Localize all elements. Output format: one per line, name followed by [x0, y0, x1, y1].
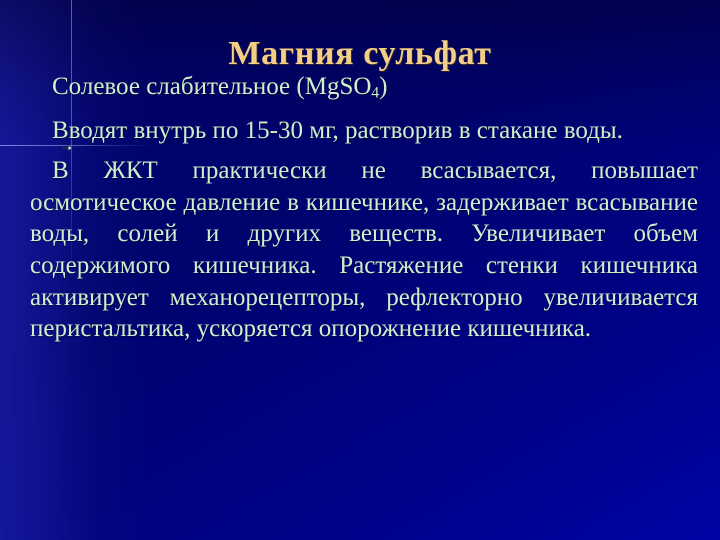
formula-text-after: )	[379, 73, 387, 100]
page-title: Магния сульфат	[0, 36, 720, 72]
paragraph-dosage: Вводят внутрь по 15-30 мг, растворив в с…	[30, 116, 698, 147]
formula-subscript: 4	[371, 84, 379, 101]
formula-text-before: Солевое слабительное (MgSO	[52, 73, 371, 100]
paragraph-formula: Солевое слабительное (MgSO4)	[30, 72, 698, 103]
slide-body: Солевое слабительное (MgSO4) Вводят внут…	[30, 72, 698, 354]
paragraph-mechanism: В ЖКТ практически не всасывается, повыша…	[30, 155, 698, 345]
presentation-slide: Магния сульфат Солевое слабительное (MgS…	[0, 0, 720, 540]
